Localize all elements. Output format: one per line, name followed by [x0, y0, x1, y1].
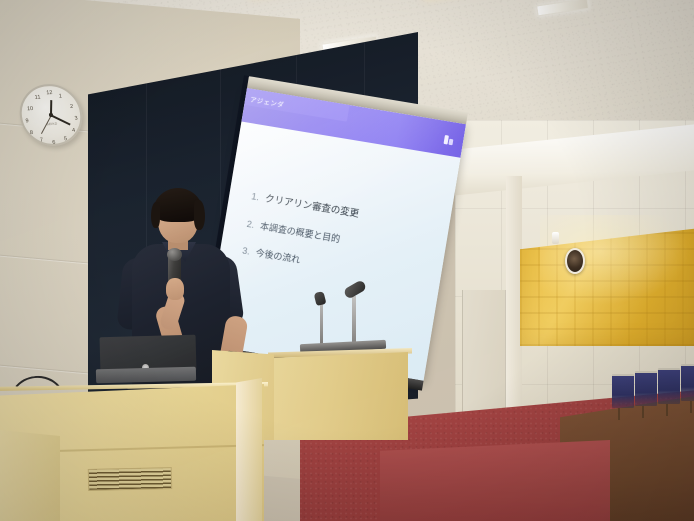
clock-numeral: 11 — [34, 95, 40, 101]
chair-leg — [690, 401, 692, 413]
microphone-head-icon — [167, 248, 182, 261]
clock-numeral: 9 — [25, 118, 29, 124]
laptop-base — [96, 367, 196, 384]
stage-step — [380, 440, 610, 521]
gooseneck-microphone-right — [352, 296, 356, 348]
stacked-chairs — [612, 360, 694, 424]
hair-side-right — [194, 200, 205, 230]
front-desk-side-panel — [236, 378, 262, 521]
clock-numeral: 1 — [58, 93, 62, 99]
chair-leg — [666, 404, 668, 416]
chair — [658, 368, 680, 404]
wall-sconce-icon — [552, 232, 559, 244]
gooseneck-microphone-left — [320, 300, 323, 348]
presentation-logo-icon — [444, 133, 459, 146]
clock-numeral: 6 — [52, 140, 56, 146]
lectern — [272, 352, 408, 440]
clock-numeral: 3 — [74, 116, 78, 122]
clock-numeral: 12 — [46, 90, 53, 96]
ceiling-wall-speaker-icon — [565, 248, 585, 274]
presentation-photo-scene: 12 1 2 3 4 5 6 7 8 9 10 11 SEIKO — [0, 0, 694, 521]
chair-leg — [618, 408, 620, 420]
clock-numeral: 10 — [27, 106, 34, 112]
ventilation-grille — [88, 467, 172, 491]
clock-numeral: 5 — [64, 136, 68, 142]
wall-column — [506, 176, 522, 436]
front-desk-lower-panel — [0, 430, 60, 521]
hair-side-left — [151, 202, 160, 228]
chair — [681, 364, 694, 401]
clock-numeral: 8 — [30, 130, 34, 136]
clock-center-pin — [49, 113, 53, 117]
chair-leg — [642, 406, 644, 418]
clock-numeral: 7 — [40, 137, 44, 143]
left-hand — [166, 278, 184, 300]
chair — [635, 371, 657, 406]
clock-numeral: 4 — [72, 128, 76, 134]
chair — [612, 374, 634, 408]
clock-numeral: 2 — [70, 104, 74, 110]
